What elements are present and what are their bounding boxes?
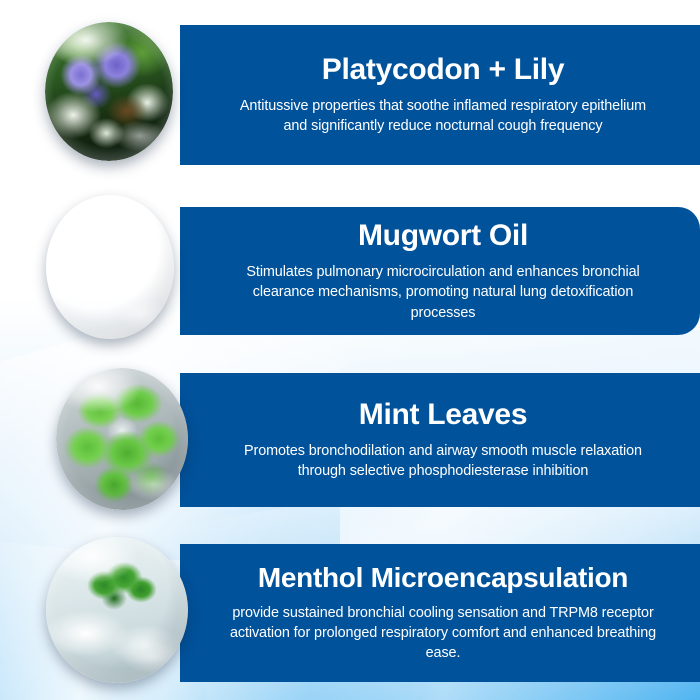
platycodon-flowers-sphere bbox=[45, 22, 173, 161]
menthol-photo bbox=[46, 537, 188, 683]
card-copy: Platycodon + Lily Antitussive properties… bbox=[200, 25, 686, 165]
card-title: Platycodon + Lily bbox=[322, 53, 564, 87]
menthol-crystals-sphere bbox=[46, 537, 188, 683]
card-description: Antitussive properties that soothe infla… bbox=[228, 96, 658, 137]
mint-leaves-sphere bbox=[56, 368, 188, 510]
card-description: provide sustained bronchial cooling sens… bbox=[223, 603, 663, 664]
platycodon-photo bbox=[45, 22, 173, 161]
card-title: Mint Leaves bbox=[359, 398, 527, 432]
card-description: Stimulates pulmonary microcirculation an… bbox=[223, 262, 663, 323]
mugwort-field-sphere bbox=[46, 195, 174, 339]
card-copy: Mugwort Oil Stimulates pulmonary microci… bbox=[200, 207, 686, 335]
card-title: Menthol Microencapsulation bbox=[258, 562, 628, 593]
mugwort-photo bbox=[46, 195, 174, 339]
infographic-page: Platycodon + Lily Antitussive properties… bbox=[0, 0, 700, 700]
card-description: Promotes bronchodilation and airway smoo… bbox=[223, 441, 663, 482]
card-copy: Mint Leaves Promotes bronchodilation and… bbox=[200, 373, 686, 507]
card-title: Mugwort Oil bbox=[358, 219, 528, 253]
card-copy: Menthol Microencapsulation provide susta… bbox=[200, 544, 686, 682]
mint-leaves-photo bbox=[56, 368, 188, 510]
